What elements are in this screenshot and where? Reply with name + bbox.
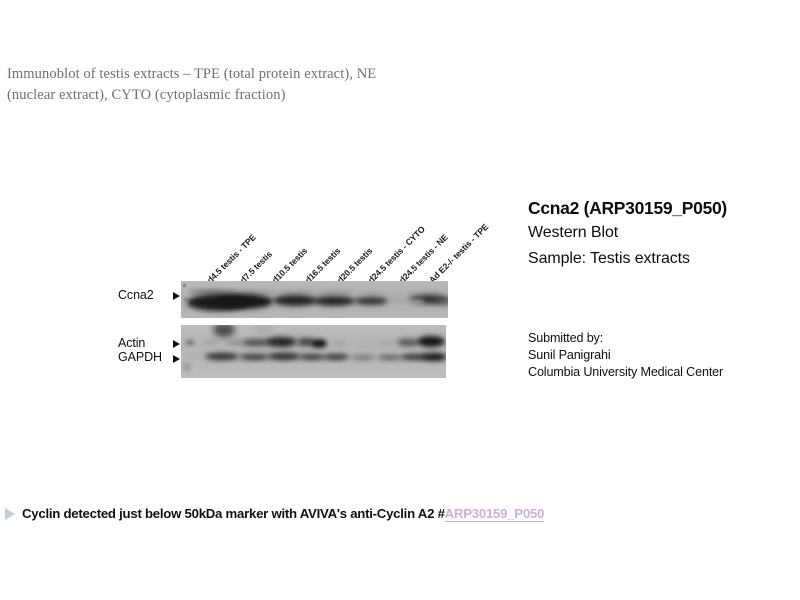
row-label-gapdh: GAPDH [118, 350, 162, 364]
actin-arrow-icon [173, 340, 180, 348]
gapdh-arrow-icon [173, 355, 180, 363]
blot-panel-ccna2 [181, 281, 448, 318]
blot-panel-ccna2-bands [181, 281, 448, 318]
lane-label-6: d24.5 testis - CYTO [366, 224, 427, 285]
product-title: Ccna2 (ARP30159_P050) [528, 196, 800, 220]
submitter-name: Sunil Panigrahi [528, 347, 800, 364]
sample-info-panel: Ccna2 (ARP30159_P050) Western Blot Sampl… [528, 196, 800, 272]
bullet-triangle-icon [5, 508, 15, 520]
assay-type: Western Blot [528, 220, 800, 246]
submitted-by-block: Submitted by: Sunil Panigrahi Columbia U… [528, 330, 800, 381]
submitted-by-label: Submitted by: [528, 330, 800, 347]
blot-panel-actin-gapdh [181, 325, 446, 378]
submitter-institution: Columbia University Medical Center [528, 364, 800, 381]
row-label-ccna2: Ccna2 [118, 288, 154, 302]
ccna2-arrow-icon [173, 292, 180, 300]
footer-note: Cyclin detected just below 50kDa marker … [22, 506, 544, 521]
footer-note-text: Cyclin detected just below 50kDa marker … [22, 506, 445, 521]
catalog-number-link[interactable]: ARP30159_P050 [445, 506, 544, 522]
lane-label-2: d7.5 testis [238, 249, 274, 285]
lane-label-8: Ad E2-/- testis - TPE [427, 222, 490, 285]
sample-description: Sample: Testis extracts [528, 246, 800, 272]
blot-panel-actin-gapdh-bands [181, 325, 446, 378]
row-label-actin: Actin [118, 336, 145, 350]
